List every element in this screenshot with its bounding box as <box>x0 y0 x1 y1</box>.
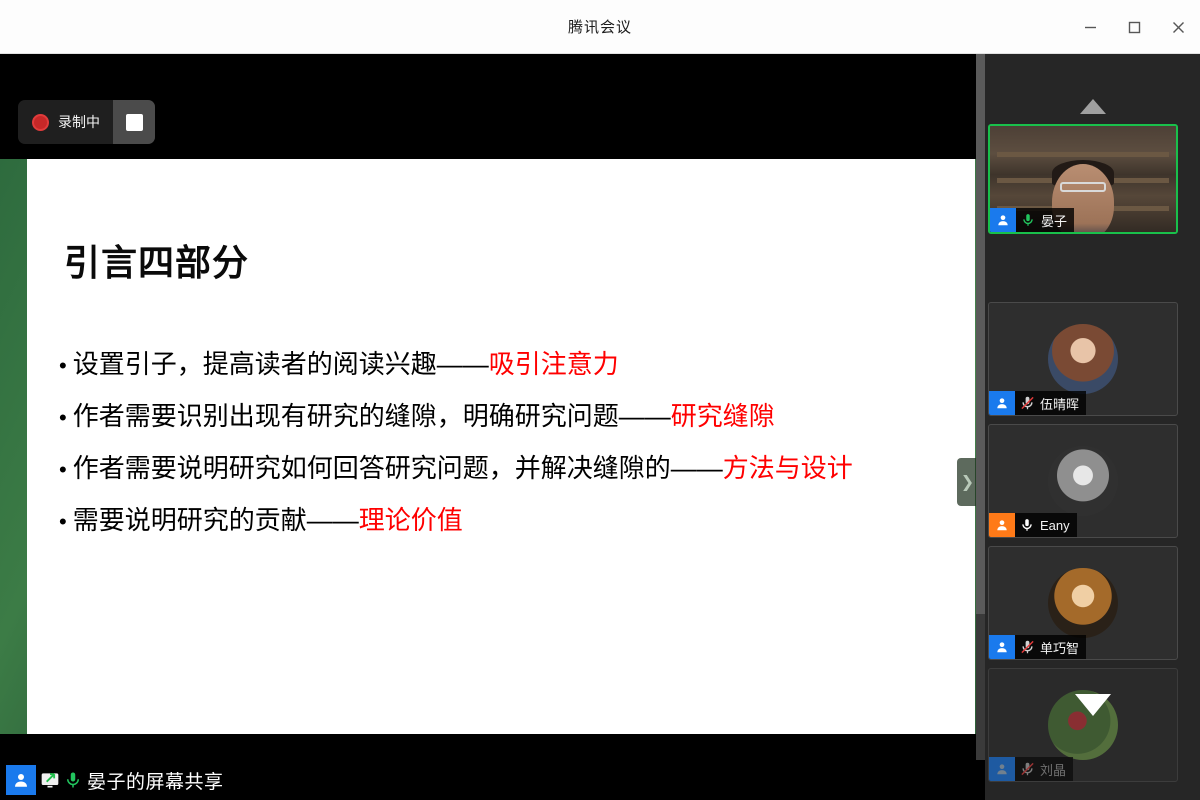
participant-name: 单巧智 <box>1039 638 1086 657</box>
participant-tile-yanzi[interactable]: 晏子 <box>988 124 1178 234</box>
collapse-panel-button[interactable]: ❯ <box>957 458 978 506</box>
mic-muted-icon <box>1015 635 1039 659</box>
participant-tile-shanqiaozhi[interactable]: 单巧智 <box>988 546 1178 660</box>
participant-name: 晏子 <box>1040 211 1074 230</box>
presenter-person-icon <box>6 765 36 795</box>
window-title-bar: 腾讯会议 <box>0 0 1200 54</box>
meeting-stage: 引言四部分 • 设置引子，提高读者的阅读兴趣—— 吸引注意力 • 作者需要识别出… <box>0 54 1200 800</box>
mic-muted-icon <box>1015 757 1039 781</box>
bullet-text: 需要说明研究的贡献—— <box>73 507 359 533</box>
bullet-emphasis: 研究缝隙 <box>671 403 775 429</box>
bullet-emphasis: 吸引注意力 <box>489 351 619 377</box>
role-icon-member <box>989 757 1015 781</box>
bullet-emphasis: 理论价值 <box>359 507 463 533</box>
participant-tile-wuqinghui[interactable]: 伍晴晖 <box>988 302 1178 416</box>
mic-muted-icon <box>1015 391 1039 415</box>
recording-status: 录制中 <box>18 100 113 144</box>
participant-nameplate: 伍晴晖 <box>989 391 1086 415</box>
role-icon-host <box>989 513 1015 537</box>
recording-indicator[interactable]: 录制中 <box>18 100 155 144</box>
participant-tile-liujing[interactable]: 刘晶 <box>988 668 1178 782</box>
list-item: • 作者需要说明研究如何回答研究问题，并解决缝隙的—— 方法与设计 <box>59 455 949 481</box>
bullet-text: 作者需要识别出现有研究的缝隙，明确研究问题—— <box>73 403 671 429</box>
window-controls <box>1068 0 1200 54</box>
bullet-emphasis: 方法与设计 <box>723 455 853 481</box>
record-dot-icon <box>32 114 49 131</box>
minimize-button[interactable] <box>1068 0 1112 54</box>
presentation-slide: 引言四部分 • 设置引子，提高读者的阅读兴趣—— 吸引注意力 • 作者需要识别出… <box>27 159 975 734</box>
participant-nameplate: 晏子 <box>990 208 1074 232</box>
avatar <box>1048 568 1118 638</box>
scrollbar-thumb[interactable] <box>976 54 985 614</box>
participant-nameplate: 刘晶 <box>989 757 1073 781</box>
participant-nameplate: Eany <box>989 513 1077 537</box>
avatar <box>1048 324 1118 394</box>
slide-bullet-list: • 设置引子，提高读者的阅读兴趣—— 吸引注意力 • 作者需要识别出现有研究的缝… <box>59 351 949 559</box>
bullet-marker: • <box>59 459 67 481</box>
participant-nameplate: 单巧智 <box>989 635 1086 659</box>
bullet-marker: • <box>59 407 67 429</box>
participants-panel: 晏子 伍晴晖 <box>985 54 1200 800</box>
role-icon-member <box>989 391 1015 415</box>
slide-title: 引言四部分 <box>64 234 249 286</box>
chevron-right-icon: ❯ <box>961 472 974 492</box>
maximize-button[interactable] <box>1112 0 1156 54</box>
bullet-text: 设置引子，提高读者的阅读兴趣—— <box>73 351 489 377</box>
list-item: • 设置引子，提高读者的阅读兴趣—— 吸引注意力 <box>59 351 949 377</box>
role-icon-member <box>989 635 1015 659</box>
participant-name: 伍晴晖 <box>1039 394 1086 413</box>
bullet-text: 作者需要说明研究如何回答研究问题，并解决缝隙的—— <box>73 455 723 481</box>
shared-screen-region[interactable]: 引言四部分 • 设置引子，提高读者的阅读兴趣—— 吸引注意力 • 作者需要识别出… <box>0 54 985 800</box>
role-icon-member <box>990 208 1016 232</box>
shared-screen-scrollbar[interactable] <box>976 54 985 800</box>
participant-name: 刘晶 <box>1039 760 1073 779</box>
scroll-up-button[interactable] <box>985 94 1200 118</box>
list-item: • 作者需要识别出现有研究的缝隙，明确研究问题—— 研究缝隙 <box>59 403 949 429</box>
recording-label: 录制中 <box>58 112 100 132</box>
avatar <box>1048 446 1118 516</box>
triangle-up-icon <box>1080 99 1106 114</box>
bullet-marker: • <box>59 511 67 533</box>
close-button[interactable] <box>1156 0 1200 54</box>
window-title: 腾讯会议 <box>568 16 632 37</box>
share-footer-bar: 晏子的屏幕共享 <box>0 760 985 800</box>
microphone-icon <box>64 770 82 790</box>
stop-square-icon <box>126 114 143 131</box>
share-footer-label: 晏子的屏幕共享 <box>87 767 224 794</box>
participant-name: Eany <box>1039 518 1077 533</box>
avatar <box>1048 690 1118 760</box>
stop-recording-button[interactable] <box>113 100 155 144</box>
mic-on-icon <box>1015 513 1039 537</box>
mic-on-icon <box>1016 208 1040 232</box>
bullet-marker: • <box>59 355 67 377</box>
participant-tile-eany[interactable]: Eany <box>988 424 1178 538</box>
screen-share-icon <box>40 770 60 790</box>
list-item: • 需要说明研究的贡献—— 理论价值 <box>59 507 949 533</box>
